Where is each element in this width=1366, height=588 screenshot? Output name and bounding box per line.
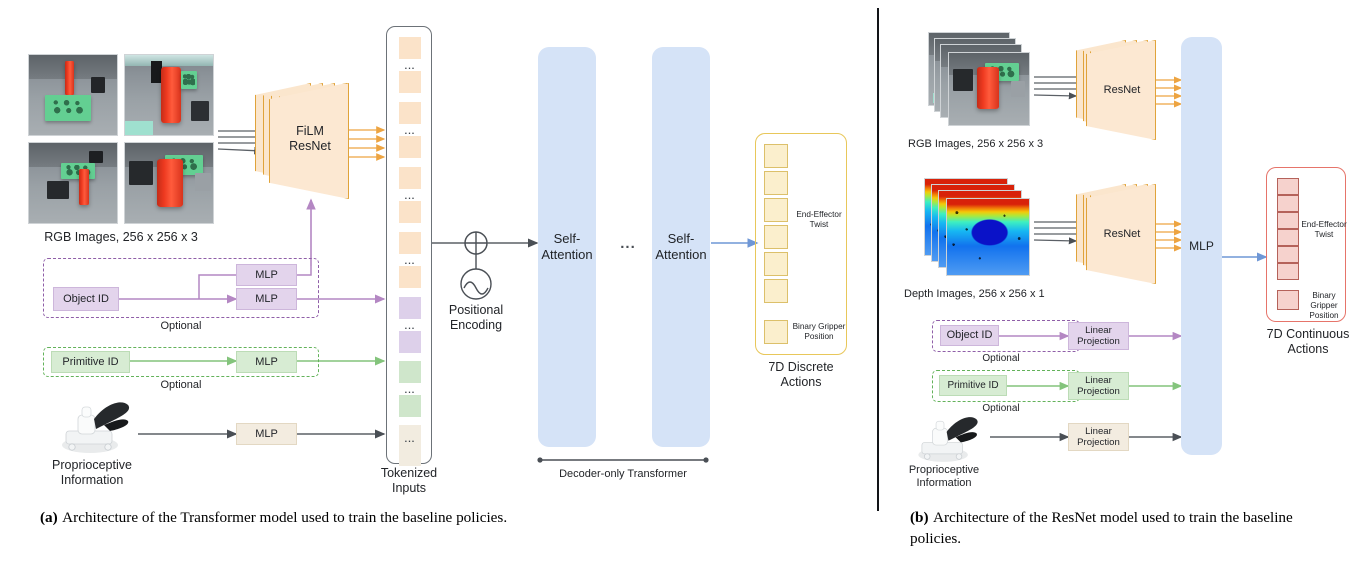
discrete-actions-caption: 7D Discrete Actions — [746, 360, 856, 391]
gripper-cell — [764, 320, 788, 344]
rgb-image-3 — [28, 142, 118, 224]
continuous-actions-caption: 7D Continuous Actions — [1256, 327, 1360, 358]
continuous-actions-box: End-Effector Twist Binary Gripper Positi… — [1266, 167, 1346, 322]
mlp-film-box[interactable]: MLP — [236, 264, 297, 286]
b-proprioceptive-label: Proprioceptive Information — [894, 464, 994, 491]
b-gripper-cell — [1277, 290, 1299, 310]
discrete-actions-box: End-Effector Twist Binary Gripper Positi… — [755, 133, 847, 355]
b-depth-resnet-stack: ResNet — [1076, 180, 1168, 290]
b-twist-cell — [1277, 246, 1299, 263]
film-resnet-label: FiLM ResNet — [277, 124, 343, 155]
positional-encoding-label: Positional Encoding — [436, 303, 516, 334]
twist-cell — [764, 279, 788, 303]
mlp-object-box[interactable]: MLP — [236, 288, 297, 310]
b-robot-gripper-icon — [906, 410, 982, 466]
binary-gripper-label: Binary Gripper Position — [790, 322, 848, 342]
b-end-effector-twist-label: End-Effector Twist — [1301, 220, 1347, 240]
b-depth-images-label: Depth Images, 256 x 256 x 1 — [904, 288, 1100, 301]
b-twist-cell — [1277, 229, 1299, 246]
b-rgb-image-stack — [928, 32, 1034, 130]
caption-a-text: Architecture of the Transformer model us… — [62, 509, 507, 526]
mlp-primitive-box[interactable]: MLP — [236, 351, 297, 373]
b-rgb-resnet-stack: ResNet — [1076, 36, 1168, 146]
b-linear-projection-proprio[interactable]: Linear Projection — [1068, 423, 1129, 451]
mlp-proprio-box[interactable]: MLP — [236, 423, 297, 445]
primitive-id-box[interactable]: Primitive ID — [51, 351, 130, 373]
caption-b-tag: (b) — [910, 509, 929, 526]
caption-b: (b) Architecture of the ResNet model use… — [910, 508, 1310, 550]
b-twist-cell — [1277, 212, 1299, 229]
rgb-images-label: RGB Images, 256 x 256 x 3 — [18, 230, 224, 245]
self-attention-block-first: Self- Attention — [538, 47, 596, 447]
rgb-image-1 — [28, 54, 118, 136]
caption-a: (a) Architecture of the Transformer mode… — [40, 508, 845, 529]
object-id-box[interactable]: Object ID — [53, 287, 119, 311]
decoder-bracket-label: Decoder-only Transformer — [538, 468, 708, 481]
tokenized-inputs-label: Tokenized Inputs — [368, 466, 450, 497]
caption-a-tag: (a) — [40, 509, 58, 526]
proprioceptive-label: Proprioceptive Information — [36, 458, 148, 489]
b-binary-gripper-label: Binary Gripper Position — [1299, 291, 1349, 321]
b-object-id-box[interactable]: Object ID — [940, 325, 999, 346]
b-depth-resnet-label: ResNet — [1094, 228, 1150, 241]
figure-root: RGB Images, 256 x 256 x 3 FiLM ResNet Ob… — [0, 0, 1366, 588]
self-attention-block-last: Self- Attention — [652, 47, 710, 447]
b-fusion-mlp-column: MLP — [1181, 37, 1222, 455]
b-depth-image-stack — [924, 178, 1036, 282]
b-rgb-images-label: RGB Images, 256 x 256 x 3 — [908, 138, 1098, 151]
attention-stack-ellipsis: ... — [608, 235, 648, 252]
b-primitive-id-box[interactable]: Primitive ID — [939, 375, 1007, 396]
twist-cell — [764, 252, 788, 276]
primitive-optional-label: Optional — [141, 379, 221, 392]
robot-gripper-icon — [48, 395, 134, 457]
rgb-image-4 — [124, 142, 214, 224]
b-twist-cell — [1277, 195, 1299, 212]
object-optional-label: Optional — [141, 320, 221, 333]
twist-cell — [764, 225, 788, 249]
b-twist-cell — [1277, 263, 1299, 280]
b-depth-image-front — [946, 198, 1030, 276]
panel-b: RGB Images, 256 x 256 x 3 ResNet Depth I… — [878, 0, 1366, 520]
b-linear-projection-object[interactable]: Linear Projection — [1068, 322, 1129, 350]
rgb-image-2 — [124, 54, 214, 136]
twist-cell — [764, 144, 788, 168]
b-object-optional-label: Optional — [966, 353, 1036, 365]
tokenized-inputs-column: ... ... ... ... ... ... ... — [386, 26, 432, 464]
b-linear-projection-primitive[interactable]: Linear Projection — [1068, 372, 1129, 400]
end-effector-twist-label: End-Effector Twist — [792, 210, 846, 230]
b-rgb-image-front — [948, 52, 1030, 126]
film-resnet-stack: FiLM ResNet — [255, 75, 355, 200]
caption-b-text: Architecture of the ResNet model used to… — [910, 509, 1293, 547]
panel-a: RGB Images, 256 x 256 x 3 FiLM ResNet Ob… — [0, 0, 877, 520]
b-twist-cell — [1277, 178, 1299, 195]
b-rgb-resnet-label: ResNet — [1094, 84, 1150, 97]
twist-cell — [764, 171, 788, 195]
twist-cell — [764, 198, 788, 222]
